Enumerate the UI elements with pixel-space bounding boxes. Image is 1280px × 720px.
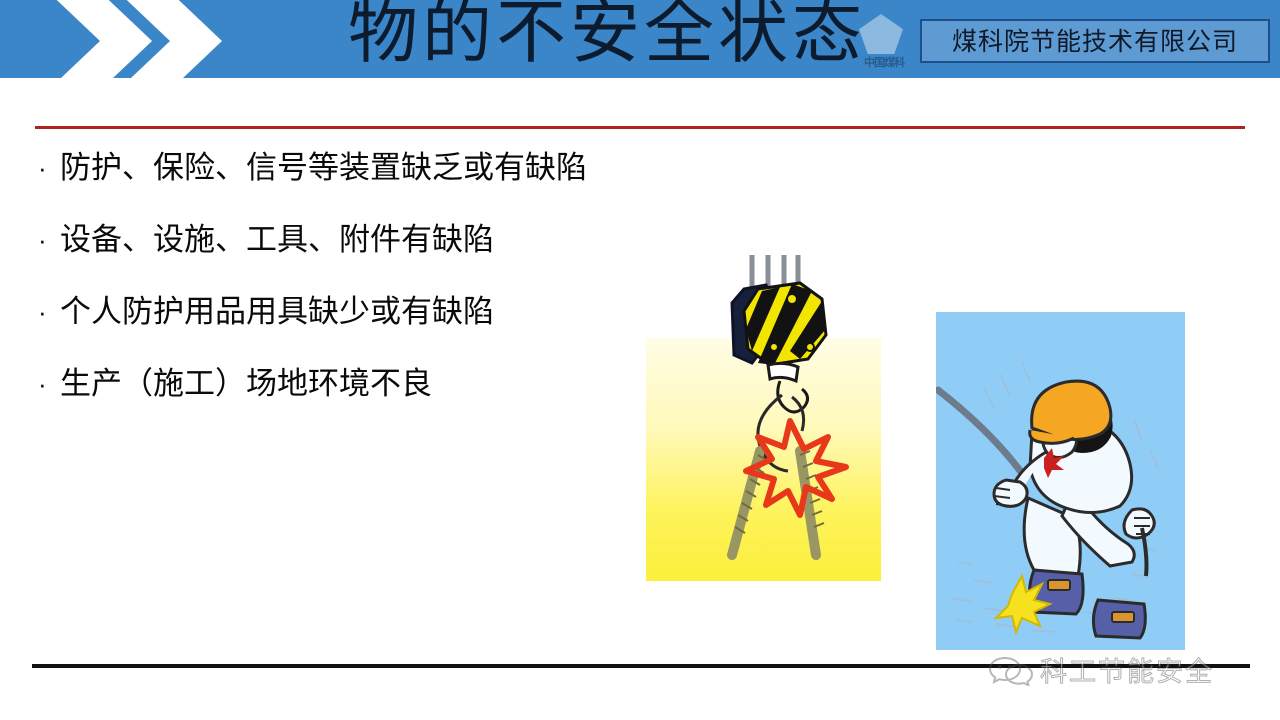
bullet-text: 个人防护用品用具缺少或有缺陷: [60, 292, 494, 332]
wechat-watermark: 科工节能安全: [988, 652, 1214, 692]
bullet-marker: ·: [38, 364, 60, 404]
page-title: 物的不安全状态: [348, 0, 938, 78]
company-name-box: 煤科院节能技术有限公司: [920, 19, 1270, 63]
worker-unsafe-equipment-illustration: [936, 312, 1185, 650]
double-chevron-right-icon: [34, 0, 234, 78]
bullet-text: 防护、保险、信号等装置缺乏或有缺陷: [60, 148, 587, 188]
list-item: · 个人防护用品用具缺少或有缺陷: [38, 292, 648, 332]
list-item: · 防护、保险、信号等装置缺乏或有缺陷: [38, 148, 648, 188]
wechat-icon: [988, 654, 1034, 691]
bullet-marker: ·: [38, 148, 60, 188]
list-item: · 生产（施工）场地环境不良: [38, 364, 648, 404]
bullet-text: 设备、设施、工具、附件有缺陷: [60, 220, 494, 260]
top-divider-rule: [35, 126, 1245, 129]
company-name-label: 煤科院节能技术有限公司: [922, 21, 1268, 61]
bullet-marker: ·: [38, 292, 60, 332]
wechat-watermark-label: 科工节能安全: [1040, 655, 1214, 689]
bullet-text: 生产（施工）场地环境不良: [60, 364, 432, 404]
list-item: · 设备、设施、工具、附件有缺陷: [38, 220, 648, 260]
header-band: 中国煤科 物的不安全状态 煤科院节能技术有限公司: [0, 0, 1280, 78]
bullet-marker: ·: [38, 220, 60, 260]
bullet-list: · 防护、保险、信号等装置缺乏或有缺陷 · 设备、设施、工具、附件有缺陷 · 个…: [38, 148, 648, 436]
hoist-block-rope-failure-illustration: [646, 338, 881, 581]
